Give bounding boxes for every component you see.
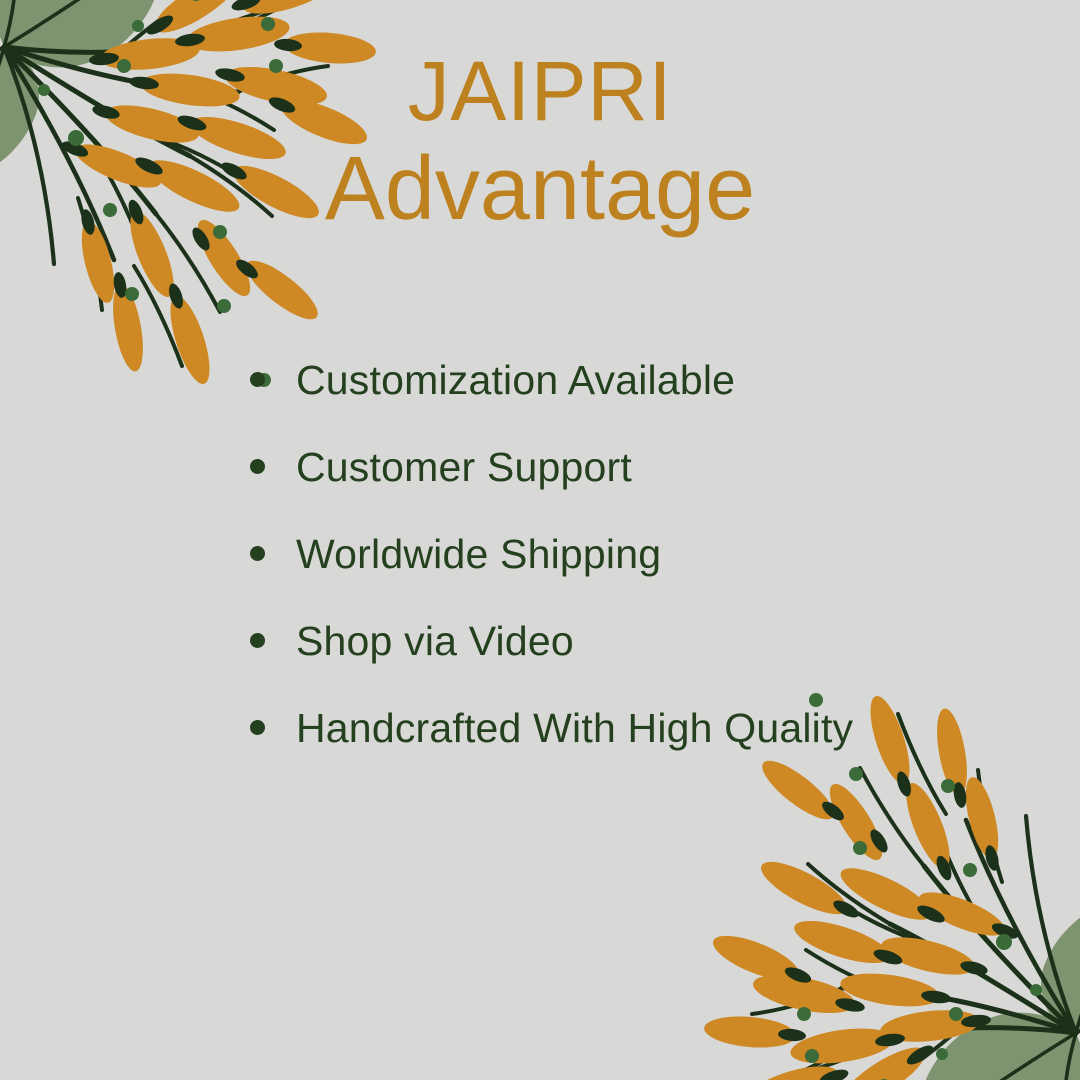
list-item: Customer Support — [250, 423, 1040, 510]
bullet-point-icon — [250, 720, 265, 735]
bullet-point-icon — [250, 546, 265, 561]
advantage-list: Customization Available Customer Support… — [250, 336, 1040, 771]
brand-name: JAIPRI — [0, 42, 1080, 140]
page-subtitle: Advantage — [0, 140, 1080, 238]
list-item: Shop via Video — [250, 597, 1040, 684]
bullet-point-icon — [250, 372, 265, 387]
list-item: Handcrafted With High Quality — [250, 684, 1040, 771]
advantage-label: Worldwide Shipping — [296, 530, 661, 578]
poster-canvas: JAIPRI Advantage Customization Available… — [0, 0, 1080, 1080]
advantage-label: Customization Available — [296, 356, 735, 404]
bullet-point-icon — [250, 459, 265, 474]
advantage-label: Customer Support — [296, 443, 632, 491]
sage-leaves-group — [918, 899, 1080, 1080]
list-item: Customization Available — [250, 336, 1040, 423]
list-item: Worldwide Shipping — [250, 510, 1040, 597]
advantage-label: Handcrafted With High Quality — [296, 704, 853, 752]
advantage-label: Shop via Video — [296, 617, 574, 665]
page-title: JAIPRI Advantage — [0, 42, 1080, 238]
bullet-point-icon — [250, 633, 265, 648]
leaf-base-tips-group — [778, 770, 1021, 1080]
